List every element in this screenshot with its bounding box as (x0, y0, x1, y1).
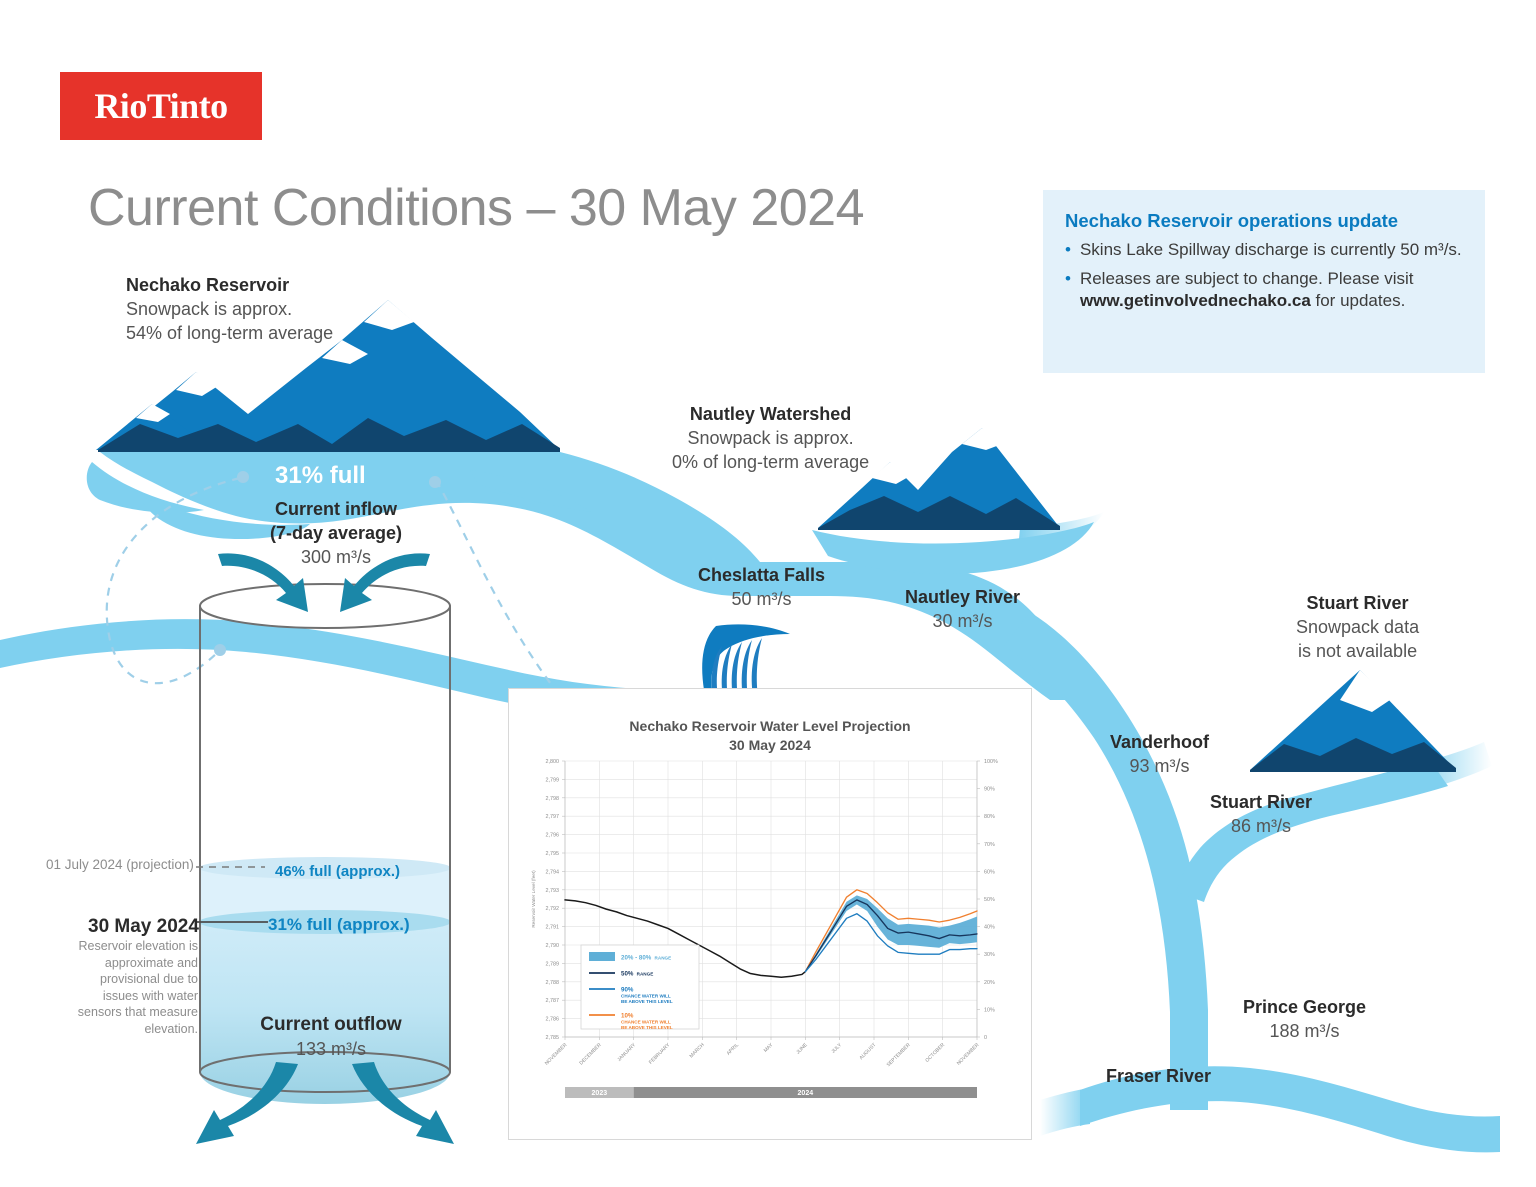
flow-name: Vanderhoof (1110, 730, 1209, 754)
nechako-snowpack-label: Nechako Reservoir Snowpack is approx. 54… (126, 274, 333, 346)
svg-text:40%: 40% (984, 925, 995, 931)
current-date-label: 30 May 2024 (88, 916, 199, 938)
nautley-snowpack-line2: 0% of long-term average (672, 451, 869, 475)
svg-text:10%: 10% (621, 1012, 634, 1019)
stuart-snowpack-line1: Snowpack data (1296, 616, 1419, 640)
svg-text:70%: 70% (984, 842, 995, 848)
flow-value: 86 m³/s (1210, 814, 1312, 838)
flow-label-cheslatta-falls: Cheslatta Falls 50 m³/s (698, 563, 825, 612)
flow-name: Prince George (1243, 995, 1366, 1019)
current-outflow-value: 133 m³/s (296, 1039, 366, 1059)
svg-text:2024: 2024 (798, 1090, 814, 1097)
svg-text:2,789: 2,789 (546, 961, 560, 967)
current-outflow-label: Current outflow 133 m³/s (236, 1012, 426, 1063)
svg-text:100%: 100% (984, 759, 998, 765)
svg-text:2,793: 2,793 (546, 888, 560, 894)
svg-text:NOVEMBER: NOVEMBER (544, 1042, 569, 1067)
nautley-snowpack-title: Nautley Watershed (672, 403, 869, 427)
flow-value: 93 m³/s (1110, 754, 1209, 778)
svg-text:60%: 60% (984, 869, 995, 875)
svg-text:JULY: JULY (830, 1042, 843, 1055)
flow-label-vanderhoof: Vanderhoof 93 m³/s (1110, 730, 1209, 779)
svg-text:2,800: 2,800 (546, 759, 560, 765)
svg-text:BE ABOVE THIS LEVEL: BE ABOVE THIS LEVEL (621, 1025, 673, 1030)
stuart-mountain-icon (1250, 670, 1456, 772)
svg-text:2,792: 2,792 (546, 906, 560, 912)
svg-text:Reservoir Water Level (feet): Reservoir Water Level (feet) (531, 870, 536, 928)
svg-text:JUNE: JUNE (795, 1042, 809, 1056)
stuart-snowpack-line2: is not available (1296, 640, 1419, 664)
svg-text:2,790: 2,790 (546, 943, 560, 949)
svg-text:2,788: 2,788 (546, 980, 560, 986)
flow-label-fraser-river: Fraser River (1106, 1066, 1211, 1087)
current-inflow-subtitle: (7-day average) (231, 522, 441, 546)
svg-text:20%: 20% (984, 980, 995, 986)
svg-text:CHANCE WATER WILL: CHANCE WATER WILL (621, 993, 671, 998)
svg-text:0: 0 (984, 1035, 987, 1041)
nechako-snowpack-line1: Snowpack is approx. (126, 298, 333, 322)
flow-name: Nautley River (905, 585, 1020, 609)
svg-text:2,796: 2,796 (546, 833, 560, 839)
flow-label-stuart-river: Stuart River 86 m³/s (1210, 790, 1312, 839)
stuart-snowpack-label: Stuart River Snowpack data is not availa… (1296, 592, 1419, 664)
svg-text:2,791: 2,791 (546, 925, 560, 931)
svg-text:2023: 2023 (592, 1090, 608, 1097)
flow-value: 188 m³/s (1243, 1019, 1366, 1043)
svg-text:80%: 80% (984, 814, 995, 820)
svg-text:10%: 10% (984, 1007, 995, 1013)
flow-label-prince-george: Prince George 188 m³/s (1243, 995, 1366, 1044)
current-inflow-label: Current inflow (7-day average) 300 m³/s (231, 498, 441, 570)
svg-text:2,794: 2,794 (546, 869, 560, 875)
svg-text:90%: 90% (984, 787, 995, 793)
projection-percent-label: 46% full (approx.) (275, 863, 400, 880)
svg-text:AUGUST: AUGUST (858, 1042, 877, 1061)
svg-text:OCTOBER: OCTOBER (924, 1042, 946, 1064)
nechako-snowpack-title: Nechako Reservoir (126, 274, 333, 298)
svg-text:2,799: 2,799 (546, 777, 560, 783)
svg-text:FEBRUARY: FEBRUARY (648, 1042, 672, 1066)
svg-text:30%: 30% (984, 952, 995, 958)
stuart-snowpack-title: Stuart River (1296, 592, 1419, 616)
svg-text:MAY: MAY (763, 1042, 775, 1054)
current-outflow-title: Current outflow (236, 1012, 426, 1037)
svg-text:2,786: 2,786 (546, 1017, 560, 1023)
water-level-projection-chart: Nechako Reservoir Water Level Projection… (508, 688, 1032, 1140)
reservoir-percent-full-overlay: 31% full (275, 462, 366, 490)
svg-text:2,798: 2,798 (546, 796, 560, 802)
svg-text:BE ABOVE THIS LEVEL: BE ABOVE THIS LEVEL (621, 999, 673, 1004)
flow-value: 30 m³/s (905, 609, 1020, 633)
chart-plot-area: 2,7852,7862,7872,7882,7892,7902,7912,792… (509, 749, 1033, 1139)
svg-text:50% RANGE: 50% RANGE (621, 970, 653, 977)
svg-text:2,797: 2,797 (546, 814, 560, 820)
svg-text:DECEMBER: DECEMBER (578, 1042, 603, 1067)
reservoir-elevation-note: Reservoir elevation is approximate and p… (66, 938, 198, 1037)
cheslatta-falls-icon (702, 624, 790, 698)
flow-label-nautley-river: Nautley River 30 m³/s (905, 585, 1020, 634)
chart-svg: 2,7852,7862,7872,7882,7892,7902,7912,792… (509, 749, 1033, 1139)
current-inflow-title: Current inflow (231, 498, 441, 522)
flow-name: Cheslatta Falls (698, 563, 825, 587)
svg-text:APRIL: APRIL (726, 1042, 741, 1057)
nautley-snowpack-label: Nautley Watershed Snowpack is approx. 0%… (672, 403, 869, 475)
flow-name: Stuart River (1210, 790, 1312, 814)
nechako-snowpack-line2: 54% of long-term average (126, 322, 333, 346)
svg-text:NOVEMBER: NOVEMBER (956, 1042, 981, 1067)
svg-text:CHANCE WATER WILL: CHANCE WATER WILL (621, 1019, 671, 1024)
chart-title-line1: Nechako Reservoir Water Level Projection (509, 717, 1031, 736)
svg-text:2,795: 2,795 (546, 851, 560, 857)
svg-text:2,785: 2,785 (546, 1035, 560, 1041)
flow-value: 50 m³/s (698, 587, 825, 611)
svg-text:2,787: 2,787 (546, 998, 560, 1004)
fraser-river-fade-left (1040, 1088, 1090, 1136)
projection-date-label: 01 July 2024 (projection) (46, 857, 194, 872)
current-inflow-value: 300 m³/s (301, 547, 371, 567)
svg-text:JANUARY: JANUARY (616, 1042, 637, 1063)
svg-text:MARCH: MARCH (689, 1042, 706, 1059)
nautley-snowpack-line1: Snowpack is approx. (672, 427, 869, 451)
svg-text:90%: 90% (621, 986, 634, 993)
svg-text:50%: 50% (984, 897, 995, 903)
svg-text:20% - 80% RANGE: 20% - 80% RANGE (621, 954, 671, 961)
current-percent-label: 31% full (approx.) (268, 915, 410, 935)
svg-text:SEPTEMBER: SEPTEMBER (886, 1042, 912, 1068)
